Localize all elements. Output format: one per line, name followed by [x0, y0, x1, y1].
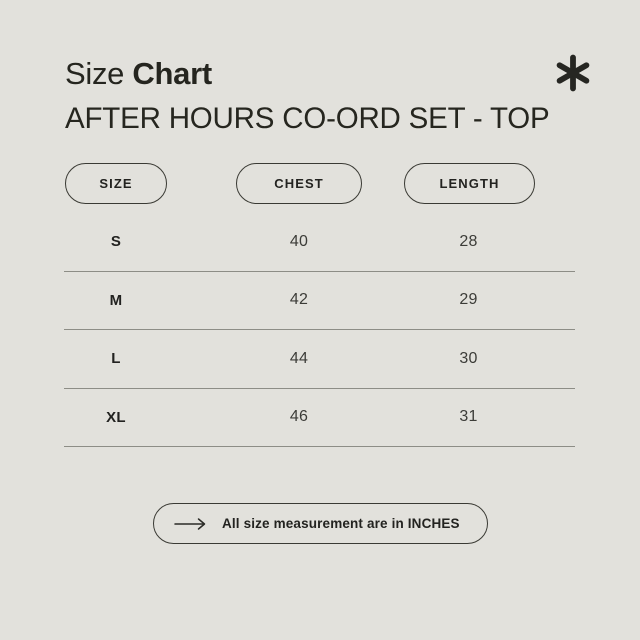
column-header-chest-label: CHEST: [274, 176, 324, 191]
column-header-size[interactable]: SIZE: [65, 163, 167, 204]
cell-size: S: [65, 213, 167, 271]
table-row: S 40 28: [64, 213, 575, 272]
size-chart-page: Size Chart AFTER HOURS CO-ORD SET - TOP …: [0, 0, 640, 640]
column-header-length[interactable]: LENGTH: [404, 163, 535, 204]
cell-length: 30: [403, 330, 534, 388]
cell-size: M: [65, 272, 167, 330]
cell-length: 29: [403, 272, 534, 330]
column-header-length-label: LENGTH: [439, 176, 499, 191]
measurement-unit-note[interactable]: All size measurement are in INCHES: [153, 503, 488, 544]
arrow-right-icon: [174, 517, 208, 531]
page-title-bold: Chart: [132, 56, 211, 91]
table-row: M 42 29: [64, 272, 575, 331]
page-title: Size Chart: [65, 56, 212, 92]
cell-chest: 42: [236, 272, 362, 330]
cell-chest: 40: [236, 213, 362, 271]
cell-size: XL: [65, 389, 167, 447]
column-header-size-label: SIZE: [99, 176, 132, 191]
cell-chest: 46: [236, 389, 362, 447]
product-subtitle: AFTER HOURS CO-ORD SET - TOP: [65, 101, 549, 137]
asterisk-icon: [552, 52, 594, 94]
size-table: S 40 28 M 42 29 L 44 30 XL 46 31: [64, 213, 575, 447]
table-row: L 44 30: [64, 330, 575, 389]
table-row: XL 46 31: [64, 389, 575, 448]
measurement-unit-text: All size measurement are in INCHES: [222, 516, 460, 531]
column-header-chest[interactable]: CHEST: [236, 163, 362, 204]
cell-size: L: [65, 330, 167, 388]
cell-chest: 44: [236, 330, 362, 388]
cell-length: 28: [403, 213, 534, 271]
page-title-light: Size: [65, 56, 132, 91]
cell-length: 31: [403, 389, 534, 447]
column-header-row: SIZE CHEST LENGTH: [0, 163, 640, 206]
